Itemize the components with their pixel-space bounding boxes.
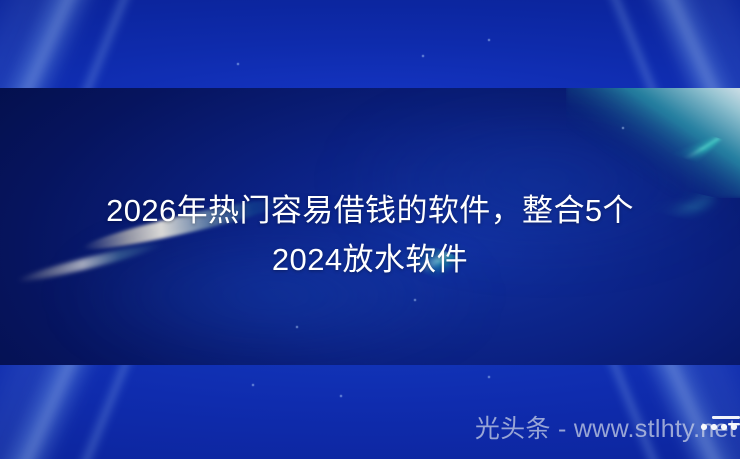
watermark: 光头条 - www.stlhty.net xyxy=(475,417,736,442)
watermark-text: 光头条 - www.stlhty.net xyxy=(475,417,736,442)
promo-banner: 2026年热门容易借钱的软件，整合5个 2024放水软件 光头条 - www.s… xyxy=(0,0,740,459)
sparkle-dot xyxy=(622,127,624,129)
sparkle-dot xyxy=(252,384,254,386)
bottom-bright-band xyxy=(0,365,740,459)
top-bright-band xyxy=(0,0,740,88)
banner-headline: 2026年热门容易借钱的软件，整合5个 2024放水软件 xyxy=(0,186,740,284)
sparkle-dot xyxy=(422,55,424,57)
bullet-list-icon xyxy=(698,413,740,441)
